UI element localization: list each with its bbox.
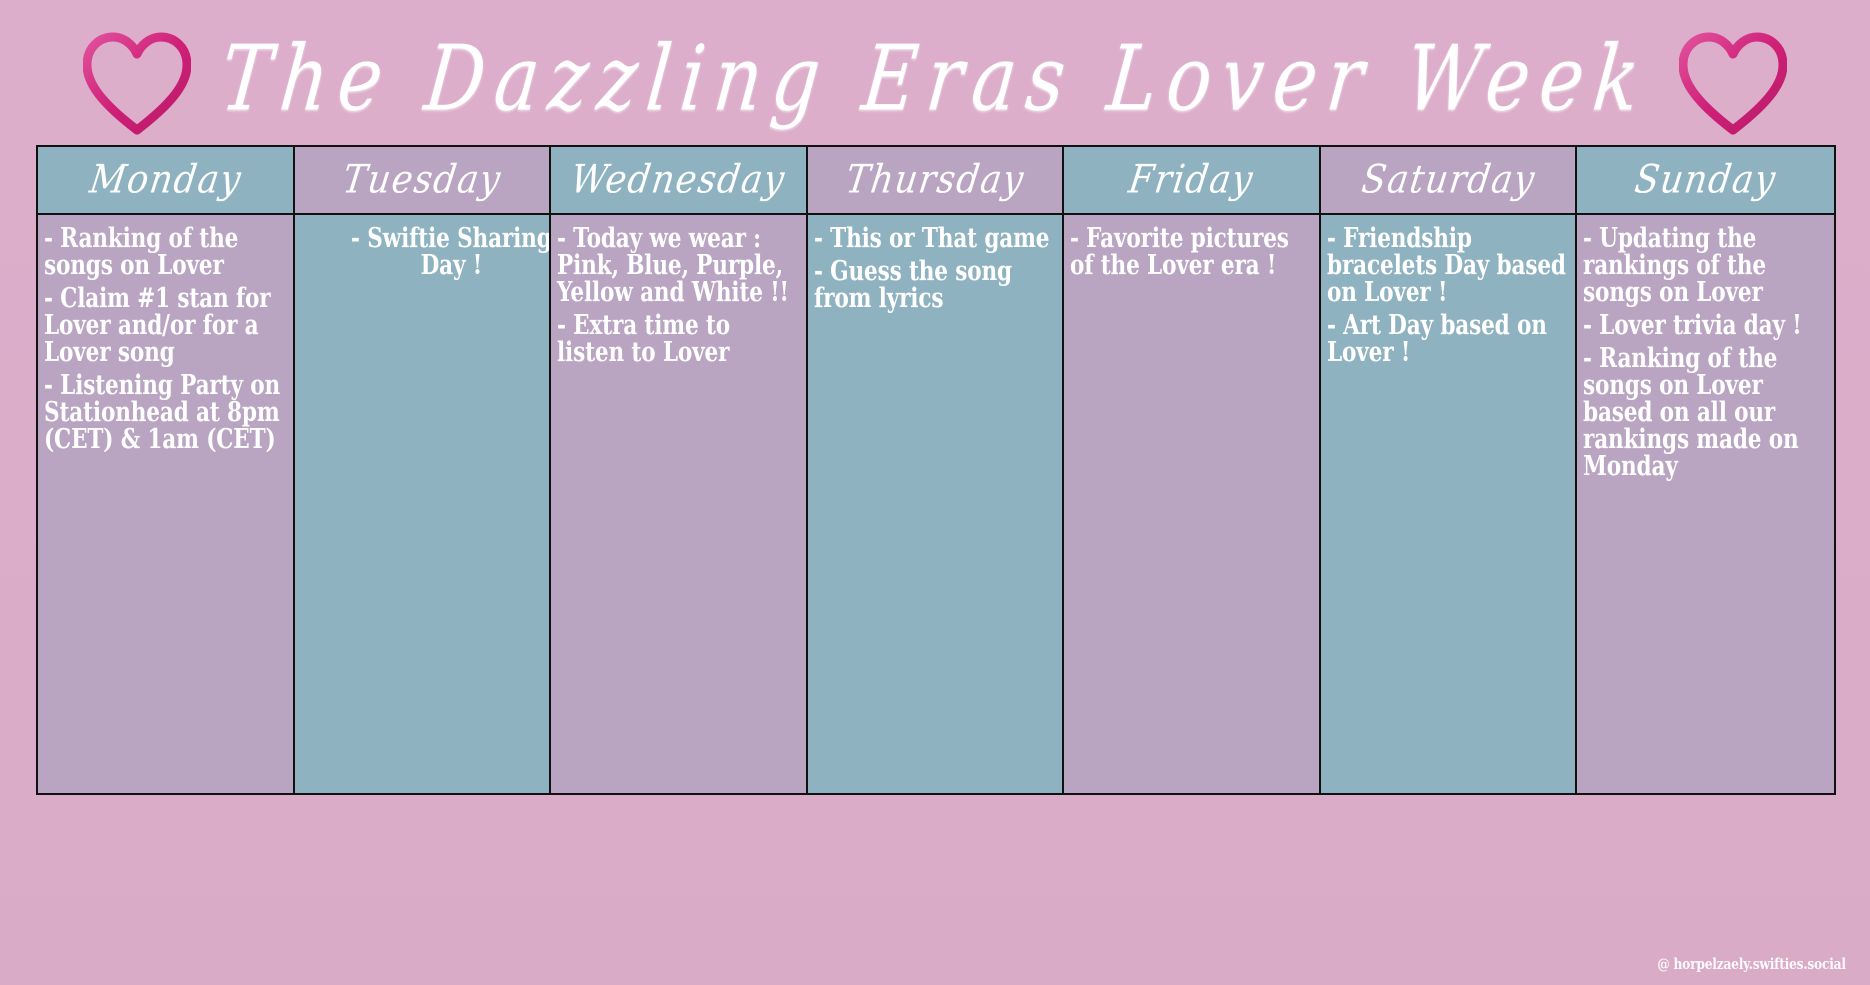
day-column-sunday: Sunday- Updating the rankings of the son… [1577,147,1834,793]
day-header-monday[interactable]: Monday [38,147,293,215]
day-header-thursday[interactable]: Thursday [808,147,1063,215]
day-header-sunday[interactable]: Sunday [1577,147,1834,215]
day-activity-item: - Extra time to listen to Lover [557,312,798,366]
day-activity-item: - Claim #1 stan for Lover and/or for a L… [44,285,285,366]
day-activity-item: - Swiftie Sharing Day ! [331,225,550,279]
day-header-friday[interactable]: Friday [1064,147,1319,215]
day-column-thursday: Thursday- This or That game- Guess the s… [808,147,1065,793]
day-activity-item: - This or That game [814,225,1055,252]
day-body-tuesday: - Swiftie Sharing Day ! [295,215,550,793]
day-body-friday: - Favorite pictures of the Lover era ! [1064,215,1319,793]
page-title: The Dazzling Eras Lover Week [216,34,1654,134]
day-header-label: Tuesday [340,160,504,199]
day-header-saturday[interactable]: Saturday [1321,147,1576,215]
day-header-wednesday[interactable]: Wednesday [551,147,806,215]
day-column-friday: Friday- Favorite pictures of the Lover e… [1064,147,1321,793]
poster-header: The Dazzling Eras Lover Week [0,0,1870,168]
day-header-tuesday[interactable]: Tuesday [295,147,550,215]
day-activity-item: - Favorite pictures of the Lover era ! [1070,225,1311,279]
day-activity-item: - Today we wear : Pink, Blue, Purple, Ye… [557,225,798,306]
day-header-label: Thursday [843,160,1027,199]
day-body-saturday: - Friendship bracelets Day based on Love… [1321,215,1576,793]
day-activity-item: - Friendship bracelets Day based on Love… [1327,225,1568,306]
day-body-sunday: - Updating the rankings of the songs on … [1577,215,1834,793]
day-body-monday: - Ranking of the songs on Lover- Claim #… [38,215,293,793]
poster-canvas: The Dazzling Eras Lover Week Monday- Ran… [0,0,1870,985]
week-calendar: Monday- Ranking of the songs on Lover- C… [36,145,1836,795]
day-activity-item: - Updating the rankings of the songs on … [1583,225,1826,306]
watermark: @ horpelzaely.swifties.social [1658,955,1846,973]
day-activity-item: - Ranking of the songs on Lover [44,225,285,279]
day-activity-item: - Lover trivia day ! [1583,312,1826,339]
day-body-thursday: - This or That game- Guess the song from… [808,215,1063,793]
day-header-label: Wednesday [569,160,789,199]
day-column-tuesday: Tuesday- Swiftie Sharing Day ! [295,147,552,793]
day-column-wednesday: Wednesday- Today we wear : Pink, Blue, P… [551,147,808,793]
day-column-saturday: Saturday- Friendship bracelets Day based… [1321,147,1578,793]
day-column-monday: Monday- Ranking of the songs on Lover- C… [38,147,295,793]
day-header-label: Monday [87,160,244,199]
day-header-label: Sunday [1632,160,1779,199]
day-activity-item: - Art Day based on Lover ! [1327,312,1568,366]
heart-icon [83,32,191,136]
day-header-label: Friday [1127,160,1257,199]
day-body-wednesday: - Today we wear : Pink, Blue, Purple, Ye… [551,215,806,793]
heart-icon [1679,32,1787,136]
day-header-label: Saturday [1359,160,1538,199]
day-activity-item: - Ranking of the songs on Lover based on… [1583,345,1826,480]
day-activity-item: - Listening Party on Stationhead at 8pm … [44,372,285,453]
day-activity-item: - Guess the song from lyrics [814,258,1055,312]
